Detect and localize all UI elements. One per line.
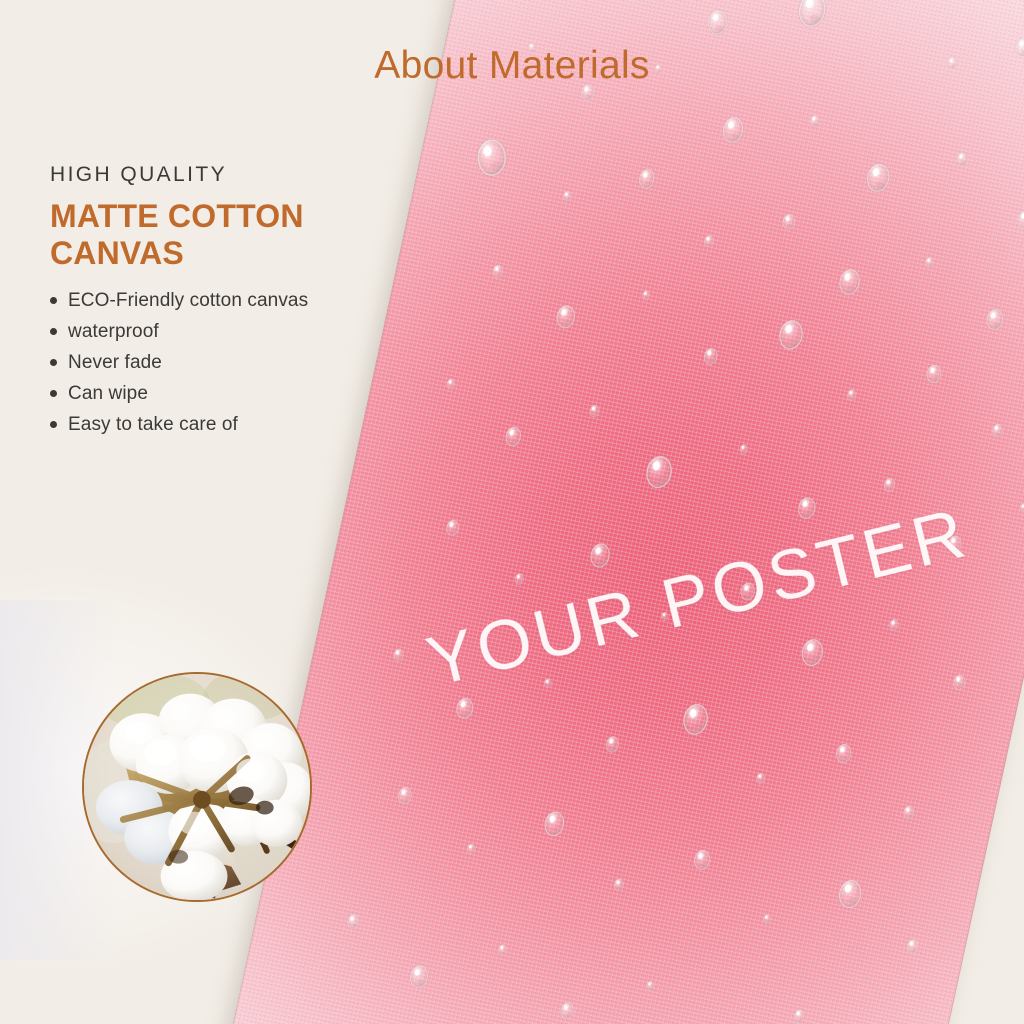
feature-list: ECO-Friendly cotton canvas waterproof Ne… <box>50 290 400 436</box>
feature-label: ECO-Friendly cotton canvas <box>68 290 308 311</box>
poster-sheet: YOUR POSTER <box>227 0 1024 1024</box>
bullet-icon <box>50 359 57 366</box>
bullet-icon <box>50 328 57 335</box>
bullet-icon <box>50 390 57 397</box>
poster-edge-outline <box>227 0 1024 1024</box>
poster-mockup-canvas: YOUR POSTER About Materials HIGH QUALITY… <box>0 0 1024 1024</box>
list-item: ECO-Friendly cotton canvas <box>50 290 400 312</box>
list-item: Never fade <box>50 352 400 374</box>
eyebrow-label: HIGH QUALITY <box>50 164 400 185</box>
feature-label: Never fade <box>68 352 162 373</box>
feature-label: Easy to take care of <box>68 414 238 435</box>
headline-line-1: MATTE COTTON <box>50 198 400 235</box>
list-item: Easy to take care of <box>50 414 400 436</box>
cotton-photo-inset <box>82 672 312 902</box>
materials-copy-block: HIGH QUALITY MATTE COTTON CANVAS ECO-Fri… <box>50 164 400 445</box>
cotton-boll-icon <box>84 674 310 900</box>
feature-label: Can wipe <box>68 383 148 404</box>
poster-surface: YOUR POSTER <box>227 0 1024 1024</box>
list-item: Can wipe <box>50 383 400 405</box>
page-title: About Materials <box>0 44 1024 88</box>
bullet-icon <box>50 297 57 304</box>
bullet-icon <box>50 421 57 428</box>
headline-line-2: CANVAS <box>50 235 400 272</box>
headline: MATTE COTTON CANVAS <box>50 198 400 272</box>
list-item: waterproof <box>50 321 400 343</box>
feature-label: waterproof <box>68 321 159 342</box>
